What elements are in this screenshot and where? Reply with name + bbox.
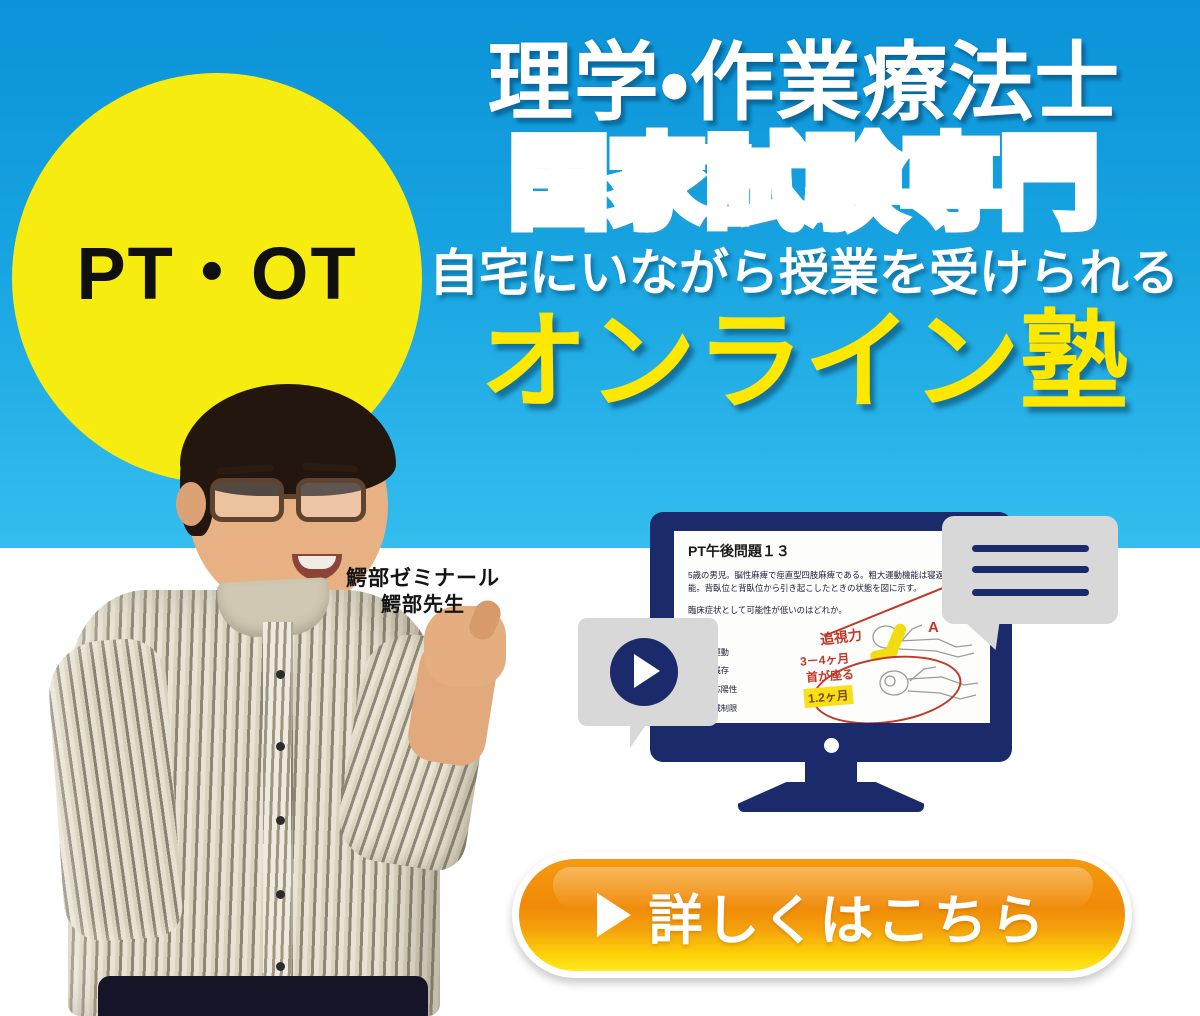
hamburger-menu-icon (972, 589, 1089, 596)
teacher-glasses-left (210, 478, 284, 522)
monitor-bezel-dot (824, 738, 839, 753)
headline-line-2-fill: 国家試験専門 (510, 128, 1098, 238)
cta-button-frame[interactable]: 詳しくはこちら (512, 852, 1132, 978)
annotation-mark-a: A (928, 619, 939, 636)
annotation-note-1: 追視力 (819, 625, 863, 650)
hamburger-menu-icon (972, 566, 1089, 573)
cta-button-inner: 詳しくはこちら (597, 876, 1048, 955)
teacher-glasses-bridge (282, 494, 298, 499)
play-triangle-icon (597, 893, 631, 937)
caption-person: 鰐部先生 (330, 592, 516, 618)
monitor-stand-base (738, 782, 924, 812)
exam-question-body: 5歳の男児。脳性麻痺で痙直型四肢麻痺である。粗大運動機能は寝返りが可能。背臥位と… (688, 569, 984, 594)
teacher-shirt-placket (263, 622, 293, 1002)
caption-organization: 鰐部ゼミナール (330, 566, 516, 592)
teacher-shirt-button (276, 816, 285, 825)
teacher-shirt-button (276, 670, 285, 679)
teacher-arm-left (46, 636, 185, 944)
headline-block: 理学・作業療法士 国家試験専門 国家試験専門 自宅にいながら授業を受けられる オ… (418, 38, 1190, 419)
headline-line-3: 自宅にいながら授業を受けられる (418, 246, 1190, 301)
play-triangle-icon (634, 654, 660, 688)
exam-question-title: PT午後問題１３ (688, 541, 790, 561)
teacher-shirt-button (276, 890, 285, 899)
teacher-shirt-button (276, 962, 285, 971)
annotation-note-3: 首が座る (805, 665, 854, 685)
teacher-pants (98, 976, 428, 1016)
headline-line-1: 理学・作業療法士 (422, 38, 1186, 128)
cta-button[interactable]: 詳しくはこちら (519, 859, 1125, 971)
cta-button-label: 詳しくはこちら (649, 876, 1048, 955)
exam-question-prompt: 臨床症状として可能性が低いのはどれか。 (688, 604, 847, 616)
teacher-caption: 鰐部ゼミナール 鰐部先生 (330, 566, 516, 618)
teacher-ear (176, 482, 206, 526)
headline-line-2: 国家試験専門 国家試験専門 (510, 134, 1098, 234)
teacher-glasses-right (296, 478, 366, 522)
headline-line-2-wrapper: 国家試験専門 国家試験専門 (418, 134, 1190, 234)
teacher-shirt-button (276, 742, 285, 751)
teacher-photo (20, 378, 540, 1016)
hamburger-menu-icon (972, 545, 1089, 552)
pt-ot-badge-label: PT・OT (76, 237, 357, 311)
ad-banner: PT・OT 理学・作業療法士 国家試験専門 国家試験専門 自宅にいながら授業を受… (0, 0, 1200, 1016)
